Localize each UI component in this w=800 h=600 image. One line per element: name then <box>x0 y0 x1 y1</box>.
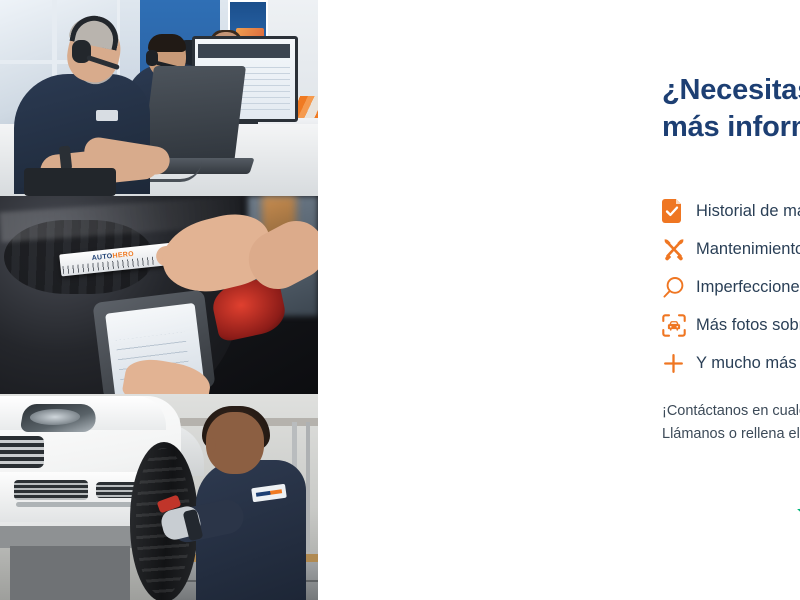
feature-label: Más fotos sobre el coche <box>696 316 800 335</box>
trustpilot-widget[interactable]: Trustpilot Excelente <box>796 480 800 558</box>
feature-label: Historial de mantenimientos <box>696 202 800 221</box>
plus-icon <box>662 352 696 375</box>
headline-line-2: más información? <box>662 109 800 146</box>
feature-label: Y mucho más <box>696 354 797 373</box>
mechanic-wheel-inspection-photo <box>0 394 318 600</box>
promo-banner: AUTOHERO <box>0 0 800 600</box>
trustpilot-logo[interactable]: Trustpilot <box>796 498 800 527</box>
promo-content: ¿Necesitas más información? Estamos enca… <box>318 0 800 600</box>
car-scan-icon <box>662 314 696 337</box>
headline-line-1: ¿Necesitas <box>662 72 800 109</box>
feature-item-mucho-mas: Y mucho más <box>662 344 800 382</box>
trustpilot-star-icon <box>796 498 800 527</box>
feature-item-imperfecciones: Imperfecciones <box>662 268 800 306</box>
feature-item-fotos: Más fotos sobre el coche <box>662 306 800 344</box>
car-inspection-ruler-photo: AUTOHERO <box>0 196 318 394</box>
page-title: ¿Necesitas más información? <box>662 72 800 146</box>
magnifier-icon <box>662 276 696 299</box>
feature-item-historial: Historial de mantenimientos <box>662 192 800 230</box>
photo-collage: AUTOHERO <box>0 0 318 600</box>
call-center-agents-photo <box>0 0 318 196</box>
feature-list: Historial de mantenimientos M <box>662 192 800 382</box>
tools-cross-icon <box>662 237 696 261</box>
feature-label: Mantenimiento realizado <box>696 240 800 259</box>
feature-item-mantenimiento: Mantenimiento realizado <box>662 230 800 268</box>
document-check-icon <box>662 199 696 223</box>
contact-line-1: ¡Contáctanos en cualquier momento para m… <box>662 400 800 423</box>
feature-label: Imperfecciones <box>696 278 800 297</box>
contact-line-2: Llámanos o rellena el formulario de cont… <box>662 423 800 446</box>
contact-text: ¡Contáctanos en cualquier momento para m… <box>662 400 800 447</box>
